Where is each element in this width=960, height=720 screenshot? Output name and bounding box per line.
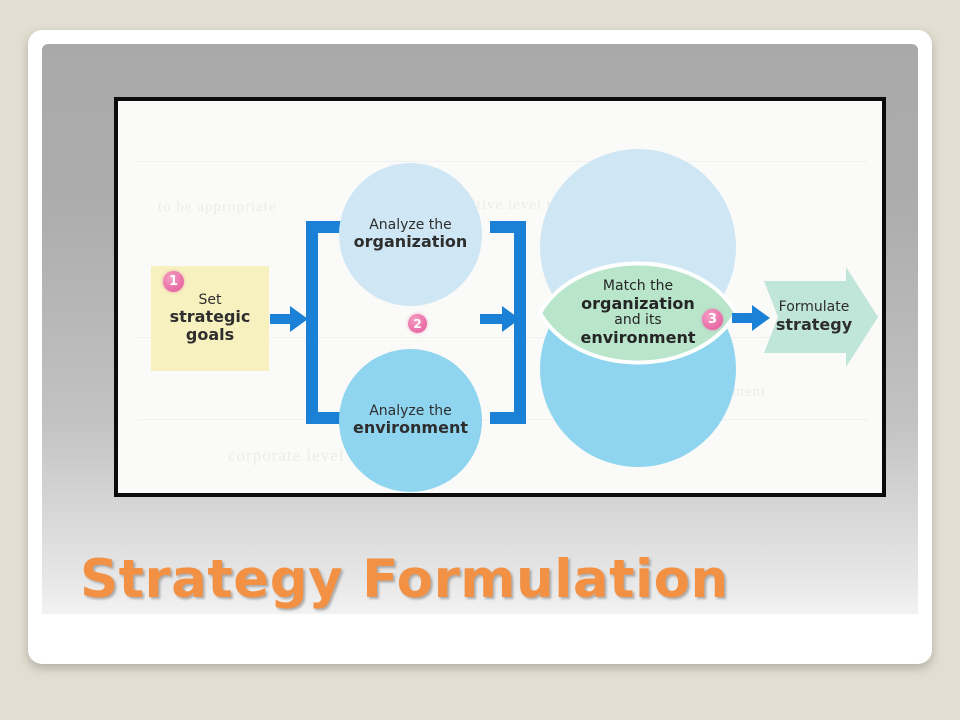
slide-surface: to be appropriate Competitive level that… [42,44,918,650]
strategy-formulation-figure: to be appropriate Competitive level that… [114,97,886,497]
step-number-badge-1: 1 [163,271,184,292]
match-organization-environment-label: Match the organization and its environme… [550,265,726,361]
analyze-the-environment-circle[interactable]: Analyze the environment [339,349,482,492]
outcome-line-2: strategy [776,316,852,334]
step-1-label: Set strategic goals [170,293,251,344]
analyze-organization-label: Analyze the organization [354,217,468,251]
step-1-line-2: strategic [170,308,251,326]
scan-ghost-line [138,161,868,162]
step-1-line-1: Set [170,293,251,309]
arrow-right-icon-1 [270,304,310,334]
analyze-environment-line-2: environment [353,419,468,437]
step-3-line-1: Match the [581,279,696,295]
bracket-left [306,221,342,424]
analyze-organization-line-2: organization [354,233,468,251]
page-title: Strategy Formulation [80,549,729,610]
title-area: Strategy Formulation [80,538,880,614]
step-number-badge-3: 3 [702,309,723,330]
analyze-environment-line-1: Analyze the [353,403,468,419]
step-1-line-3: goals [170,326,251,344]
slide-frame: to be appropriate Competitive level that… [28,30,932,664]
scan-ghost-text: to be appropriate [158,199,277,216]
slide-bottom-band [42,614,918,650]
analyze-the-organization-circle[interactable]: Analyze the organization [339,163,482,306]
formulate-strategy-chevron[interactable]: Formulate strategy [764,265,879,369]
step-number-badge-2: 2 [408,314,427,333]
arrow-right-icon-2 [480,304,522,334]
step-3-line-3: and its [581,313,696,329]
step-3-line-4: environment [581,329,696,347]
outcome-line-1: Formulate [776,300,852,316]
analyze-organization-line-1: Analyze the [354,217,468,233]
analyze-environment-label: Analyze the environment [353,403,468,437]
figure-canvas: to be appropriate Competitive level that… [118,101,882,493]
formulate-strategy-label: Formulate strategy [772,293,856,341]
step-3-line-2: organization [581,295,696,313]
